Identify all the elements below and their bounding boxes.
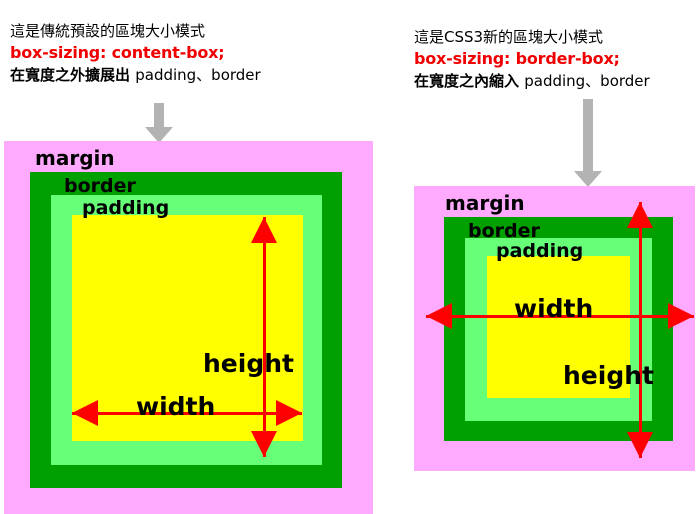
padding-label-right: padding	[496, 240, 583, 262]
caption-line-3-latin: padding、border	[524, 72, 649, 90]
width-label-right: width	[514, 294, 593, 323]
caption-line-3: 在寬度之外擴展出 padding、border	[10, 64, 261, 86]
border-label-left: border	[64, 175, 136, 197]
border-box-panel: 這是CSS3新的區塊大小模式 box-sizing: border-box; 在…	[400, 0, 700, 514]
margin-box-right: margin border padding width height	[414, 186, 695, 471]
height-arrow-right	[625, 202, 655, 458]
caption-line-1: 這是傳統預設的區塊大小模式	[10, 20, 261, 42]
caption-line-3: 在寬度之內縮入 padding、border	[414, 70, 650, 92]
border-box-caption: 這是CSS3新的區塊大小模式 box-sizing: border-box; 在…	[414, 26, 650, 92]
height-arrow-left	[249, 217, 279, 457]
down-arrow-icon-left	[145, 103, 173, 143]
content-box-panel: 這是傳統預設的區塊大小模式 box-sizing: content-box; 在…	[0, 0, 400, 514]
margin-box-left: margin border padding width height	[4, 141, 373, 514]
margin-label-right: margin	[445, 191, 525, 215]
caption-line-1: 這是CSS3新的區塊大小模式	[414, 26, 650, 48]
padding-label-left: padding	[82, 197, 169, 219]
content-box-caption: 這是傳統預設的區塊大小模式 box-sizing: content-box; 在…	[10, 20, 261, 86]
border-box-left: border padding	[30, 172, 342, 488]
caption-line-3-cjk: 在寬度之內縮入	[414, 72, 524, 90]
height-label-left: height	[203, 349, 294, 378]
width-label-left: width	[136, 392, 215, 421]
caption-code-line: box-sizing: content-box;	[10, 42, 261, 64]
down-arrow-icon-right	[574, 99, 602, 187]
margin-label-left: margin	[35, 146, 115, 170]
caption-line-3-cjk: 在寬度之外擴展出	[10, 66, 135, 84]
caption-line-3-latin: padding、border	[135, 66, 260, 84]
caption-code-line: box-sizing: border-box;	[414, 48, 650, 70]
border-label-right: border	[468, 220, 540, 242]
height-label-right: height	[563, 361, 654, 390]
